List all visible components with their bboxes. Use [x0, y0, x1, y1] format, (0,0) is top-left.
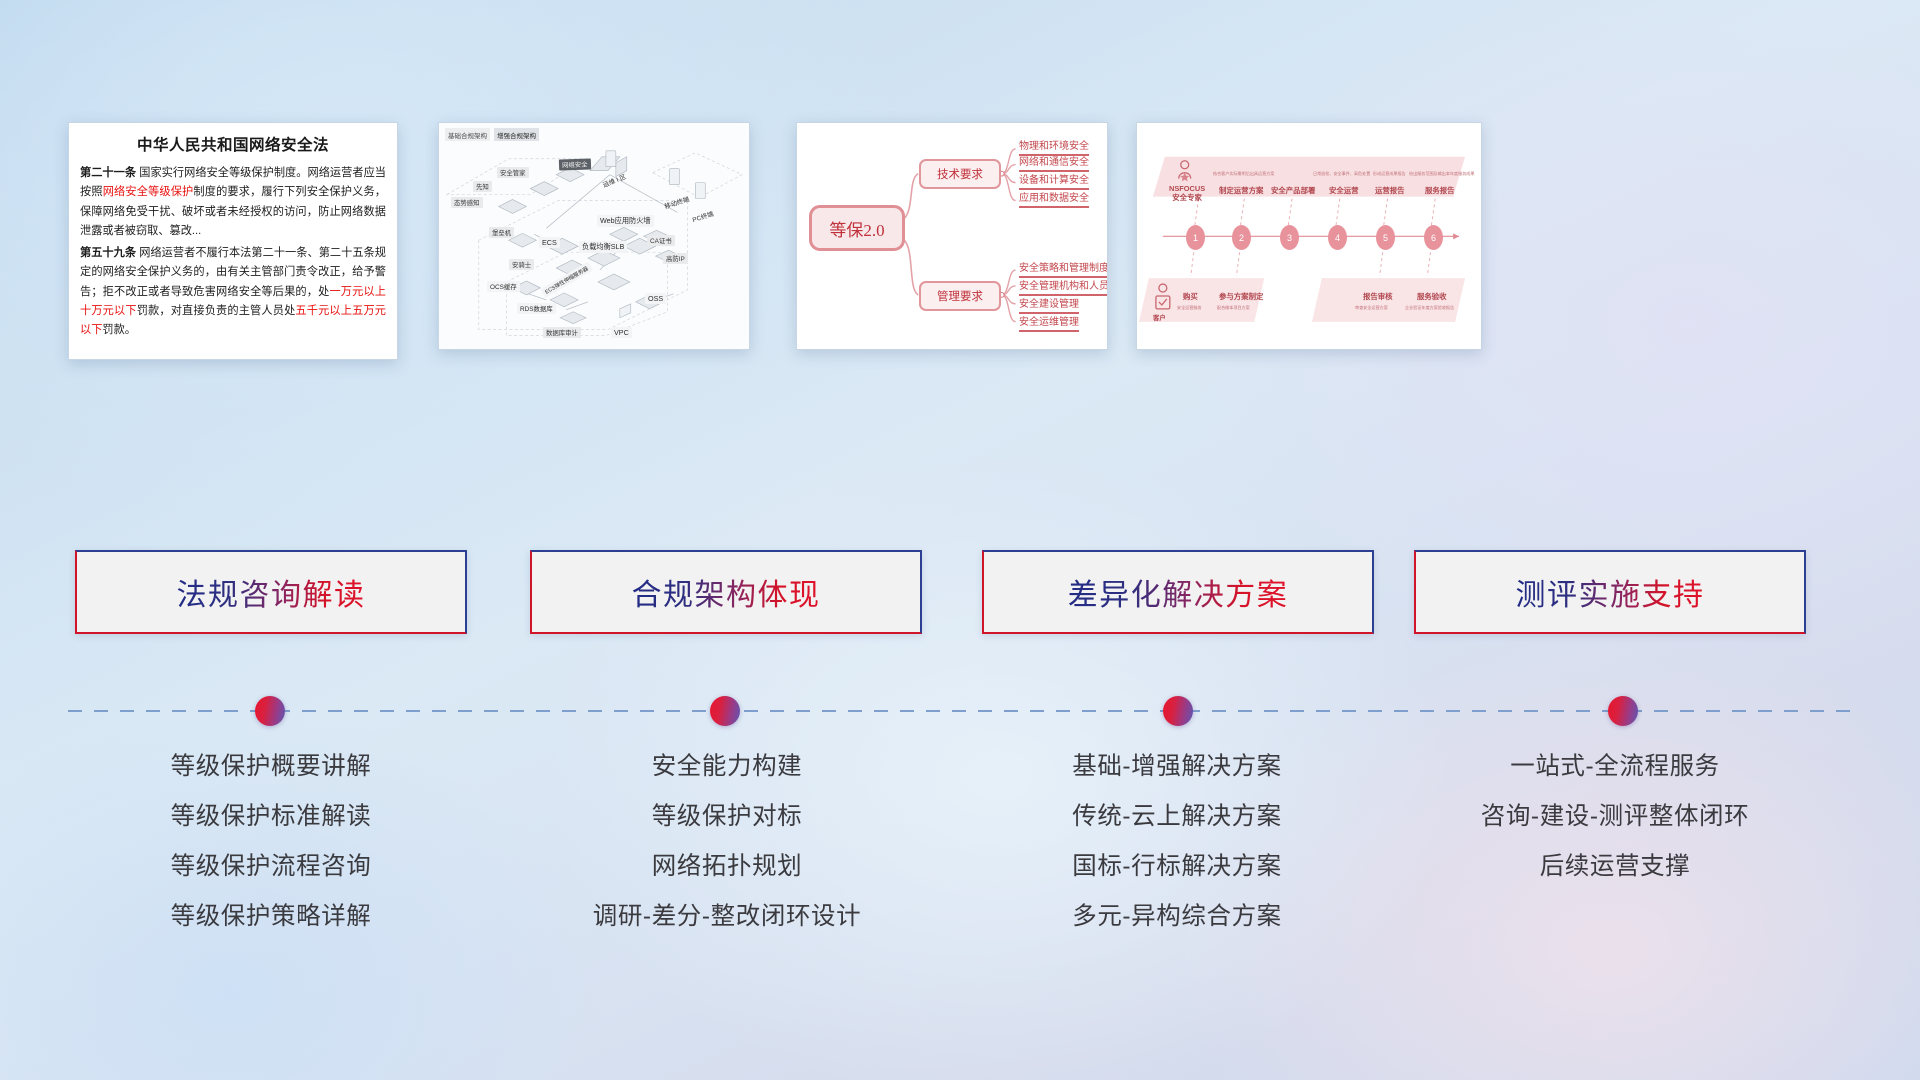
roadmap-bottom-purchase-sub: 安全运营服务	[1177, 305, 1202, 311]
mindmap-branch-management[interactable]: 管理要求	[919, 281, 1001, 311]
timeline-dashed-line	[68, 710, 1852, 712]
arch-node-ocs-cache: OCS缓存	[487, 281, 520, 292]
architecture-connectors	[439, 123, 749, 350]
timeline-dot-4[interactable]	[1608, 696, 1638, 726]
timeline-dot-3[interactable]	[1163, 696, 1193, 726]
roadmap-number-5: 5	[1376, 225, 1395, 250]
roadmap-bottom-acceptance-sub: 企业验证年度方案验收报告	[1405, 305, 1454, 311]
roadmap-step-3-title: 安全运营	[1329, 185, 1359, 196]
article-21-label: 第二十一条	[80, 167, 136, 179]
roadmap-expert-label: NSFOCUS安全专家	[1169, 185, 1205, 202]
roadmap-number-2: 2	[1232, 225, 1251, 250]
roadmap-bottom-participate-sub: 配合做本项目方案	[1217, 305, 1250, 311]
detail-list-differentiated-solution: 基础-增强解决方案 传统-云上解决方案 国标-行标解决方案 多元-异构综合方案	[962, 742, 1392, 942]
arch-node-anqishi: 安骑士	[509, 259, 534, 270]
mindmap-branch-technical[interactable]: 技术要求	[919, 159, 1001, 189]
mindmap-leaf-construction-mgmt: 安全建设管理	[1019, 295, 1079, 314]
arch-node-slb: 负载均衡SLB	[579, 241, 627, 253]
mindmap-root-node[interactable]: 等保2.0	[809, 205, 905, 251]
roadmap-bottom-review: 报告审核	[1363, 291, 1393, 302]
law-article-21: 第二十一条 国家实行网络安全等级保护制度。网络运营者应当按照网络安全等级保护制度…	[80, 164, 386, 241]
card-compliance-architecture[interactable]: 基础合规架构 增强合规架构	[438, 122, 750, 350]
banner-compliance-architecture[interactable]: 合规架构体现	[530, 550, 922, 634]
arch-node-rds-db: RDS数据库	[517, 303, 556, 314]
list-item: 等级保护对标	[512, 792, 942, 842]
article-59-text-b: 罚款，对直接负责的主管人员处	[137, 305, 296, 317]
roadmap-number-1: 1	[1186, 225, 1205, 250]
mindmap-leaf-app-data: 应用和数据安全	[1019, 189, 1089, 208]
arch-node-oss: OSS	[645, 293, 666, 304]
list-item: 传统-云上解决方案	[962, 792, 1392, 842]
card-service-roadmap[interactable]: NSFOCUS安全专家 制定运营方案 结合客户实际需明后出具运营方案 安全产品部…	[1136, 122, 1482, 350]
mindmap-leaf-policy-system: 安全策略和管理制度	[1019, 259, 1108, 278]
arch-node-xianzhi: 先知	[473, 181, 492, 192]
detail-list-assessment-support: 一站式-全流程服务 咨询-建设-测评整体闭环 后续运营支撑	[1400, 742, 1830, 892]
roadmap-diagram: NSFOCUS安全专家 制定运营方案 结合客户实际需明后出具运营方案 安全产品部…	[1137, 123, 1481, 349]
list-item: 调研-差分-整改闭环设计	[512, 892, 942, 942]
roadmap-bottom-acceptance: 服务验收	[1417, 291, 1447, 302]
arch-node-vpc: VPC	[611, 327, 632, 338]
roadmap-number-6: 6	[1424, 225, 1443, 250]
banner-label: 法规咨询解读	[177, 570, 366, 614]
detail-list-compliance-architecture: 安全能力构建 等级保护对标 网络拓扑规划 调研-差分-整改闭环设计	[512, 742, 942, 942]
detail-list-regulation-consulting: 等级保护概要讲解 等级保护标准解读 等级保护流程咨询 等级保护策略详解	[56, 742, 486, 942]
arch-node-db-audit: 数据库审计	[543, 327, 581, 338]
mindmap-leaf-device-compute: 设备和计算安全	[1019, 171, 1089, 190]
roadmap-step-3-sub: 日常巡检、安全事件、高危处置	[1313, 171, 1370, 177]
mindmap: 等保2.0 技术要求 管理要求 物理和环境安全 网络和通信安全 设备和计算安全 …	[797, 123, 1107, 349]
list-item: 一站式-全流程服务	[1400, 742, 1830, 792]
card-cybersecurity-law[interactable]: 中华人民共和国网络安全法 第二十一条 国家实行网络安全等级保护制度。网络运营者应…	[68, 122, 398, 360]
banner-label: 合规架构体现	[632, 570, 821, 614]
list-item: 等级保护概要讲解	[56, 742, 486, 792]
timeline-dot-1[interactable]	[255, 696, 285, 726]
list-item: 等级保护策略详解	[56, 892, 486, 942]
arch-node-situational-awareness: 态势感知	[451, 197, 483, 208]
banner-label: 差异化解决方案	[1068, 570, 1289, 614]
banner-regulation-consulting[interactable]: 法规咨询解读	[75, 550, 467, 634]
arch-node-security-steward: 安全管家	[497, 167, 529, 178]
roadmap-customer-label: 客户	[1153, 313, 1166, 322]
arch-node-waf: Web应用防火墙	[597, 215, 654, 227]
roadmap-step-2-title: 安全产品部署	[1271, 185, 1315, 196]
category-banners-row: 法规咨询解读 合规架构体现 差异化解决方案 测评实施支持	[0, 550, 1920, 634]
law-article-59: 第五十九条 网络运营者不履行本法第二十一条、第二十五条规定的网络安全保护义务的，…	[80, 244, 386, 340]
list-item: 网络拓扑规划	[512, 842, 942, 892]
law-title: 中华人民共和国网络安全法	[80, 133, 386, 155]
mindmap-leaf-org-personnel: 安全管理机构和人员	[1019, 277, 1108, 296]
arch-node-ecs: ECS	[539, 237, 560, 248]
roadmap-bottom-participate: 参与方案制定	[1219, 291, 1263, 302]
article-59-text-c: 罚款。	[102, 324, 136, 336]
list-item: 多元-异构综合方案	[962, 892, 1392, 942]
list-item: 基础-增强解决方案	[962, 742, 1392, 792]
arch-node-anti-ddos-ip: 高防IP	[663, 253, 688, 264]
list-item: 安全能力构建	[512, 742, 942, 792]
architecture-diagram: 基础合规架构 增强合规架构	[439, 123, 749, 349]
banner-assessment-support[interactable]: 测评实施支持	[1414, 550, 1806, 634]
roadmap-step-5-title: 服务报告	[1425, 185, 1455, 196]
list-item: 咨询-建设-测评整体闭环	[1400, 792, 1830, 842]
banner-label: 测评实施支持	[1516, 570, 1705, 614]
roadmap-bottom-review-sub: 审查安全运营方案	[1355, 305, 1388, 311]
roadmap-step-5-sub: 给出服务范围及输出本年度服务成果	[1409, 171, 1475, 177]
arch-node-network-security: 网络安全	[559, 158, 591, 170]
timeline-dot-2[interactable]	[710, 696, 740, 726]
list-item: 等级保护流程咨询	[56, 842, 486, 892]
roadmap-number-4: 4	[1328, 225, 1347, 250]
mindmap-leaf-network-comm: 网络和通信安全	[1019, 153, 1089, 172]
roadmap-step-4-sub: 形成运营成果报告	[1373, 171, 1406, 177]
mindmap-leaf-ops-mgmt: 安全运维管理	[1019, 313, 1079, 332]
arch-node-bastion-host: 堡垒机	[489, 227, 514, 238]
roadmap-number-3: 3	[1280, 225, 1299, 250]
list-item: 国标-行标解决方案	[962, 842, 1392, 892]
timeline	[0, 692, 1920, 732]
article-21-highlight: 网络安全等级保护	[103, 186, 194, 198]
roadmap-step-1-title: 制定运营方案	[1219, 185, 1263, 196]
roadmap-step-4-title: 运营报告	[1375, 185, 1405, 196]
card-dengbao-mindmap[interactable]: 等保2.0 技术要求 管理要求 物理和环境安全 网络和通信安全 设备和计算安全 …	[796, 122, 1108, 350]
roadmap-step-1-sub: 结合客户实际需明后出具运营方案	[1213, 171, 1274, 177]
list-item: 等级保护标准解读	[56, 792, 486, 842]
detail-lists-row: 等级保护概要讲解 等级保护标准解读 等级保护流程咨询 等级保护策略详解 安全能力…	[0, 742, 1920, 962]
thumbnail-cards-row: 中华人民共和国网络安全法 第二十一条 国家实行网络安全等级保护制度。网络运营者应…	[0, 122, 1920, 362]
banner-differentiated-solution[interactable]: 差异化解决方案	[982, 550, 1374, 634]
arch-node-ca-cert: CA证书	[647, 235, 675, 246]
list-item: 后续运营支撑	[1400, 842, 1830, 892]
article-59-label: 第五十九条	[80, 247, 136, 259]
roadmap-bottom-purchase: 购买	[1183, 291, 1198, 302]
law-body: 中华人民共和国网络安全法 第二十一条 国家实行网络安全等级保护制度。网络运营者应…	[69, 123, 397, 348]
